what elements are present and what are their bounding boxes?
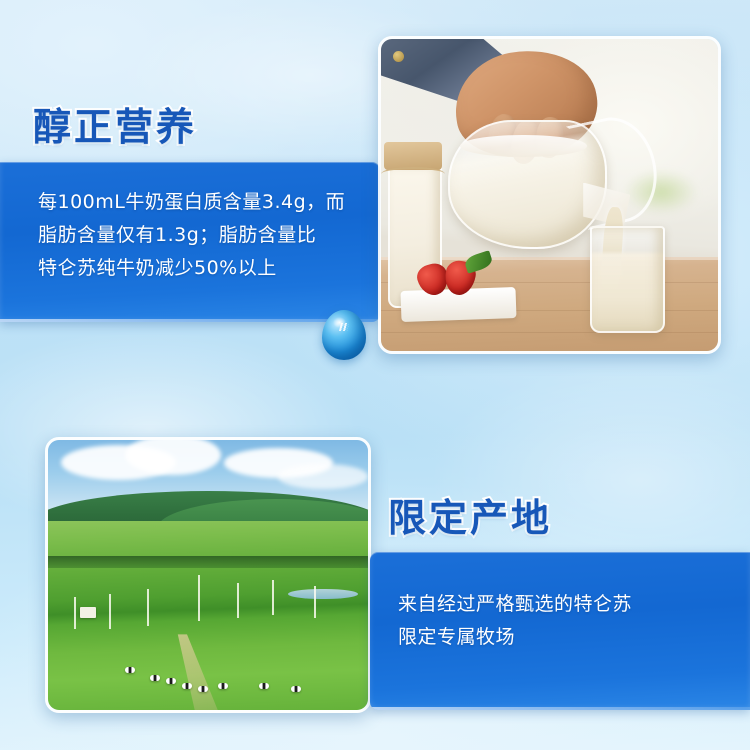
treeline-band — [48, 556, 368, 568]
fence-pole — [109, 594, 111, 629]
cow — [291, 686, 301, 692]
text-panel-origin: 来自经过严格甄选的特仑苏 限定专属牧场 — [370, 552, 750, 710]
origin-body-text: 来自经过严格甄选的特仑苏 限定专属牧场 — [398, 588, 632, 654]
cow — [150, 675, 160, 681]
photo-milk-scene — [381, 39, 718, 351]
cloud — [278, 464, 368, 488]
fence-pole — [314, 586, 316, 618]
cloud — [125, 437, 221, 475]
nutrition-line-3: 特仑苏纯牛奶减少50%以上 — [38, 252, 345, 285]
origin-line-2: 限定专属牧场 — [398, 621, 632, 654]
cow — [182, 683, 192, 689]
section-heading-nutrition: 醇正营养 — [33, 96, 197, 151]
section-heading-origin: 限定产地 — [388, 487, 552, 542]
nutrition-line-1: 每100mL牛奶蛋白质含量3.4g，而 — [38, 186, 345, 219]
droplet-body — [322, 310, 366, 360]
bottle-cork — [384, 142, 441, 170]
photo-grassland-pasture — [45, 437, 371, 713]
origin-line-1: 来自经过严格甄选的特仑苏 — [398, 588, 632, 621]
nutrition-line-2: 脂肪含量仅有1.3g；脂肪含量比 — [38, 219, 345, 252]
water-droplet-icon — [322, 310, 366, 360]
cow — [198, 686, 208, 692]
text-panel-nutrition: 每100mL牛奶蛋白质含量3.4g，而 脂肪含量仅有1.3g；脂肪含量比 特仑苏… — [0, 162, 380, 322]
photo-milk-pouring — [378, 36, 721, 354]
photo-grassland-scene — [48, 440, 368, 710]
farm-shed — [80, 607, 96, 618]
cuff-button — [393, 51, 404, 62]
cow — [218, 683, 228, 689]
fence-pole — [147, 589, 149, 627]
cow — [166, 678, 176, 684]
cow — [125, 667, 135, 673]
fence-pole — [237, 583, 239, 618]
grass-field — [48, 521, 368, 710]
promo-page: 醇正营养 每100mL牛奶蛋白质含量3.4g，而 脂肪含量仅有1.3g；脂肪含量… — [0, 0, 750, 750]
milk-glass — [590, 226, 665, 333]
fence-pole — [74, 597, 76, 629]
droplet-mark — [339, 323, 349, 331]
cow — [259, 683, 269, 689]
fence-pole — [198, 575, 200, 621]
nutrition-body-text: 每100mL牛奶蛋白质含量3.4g，而 脂肪含量仅有1.3g；脂肪含量比 特仑苏… — [38, 186, 345, 285]
fence-pole — [272, 580, 274, 615]
